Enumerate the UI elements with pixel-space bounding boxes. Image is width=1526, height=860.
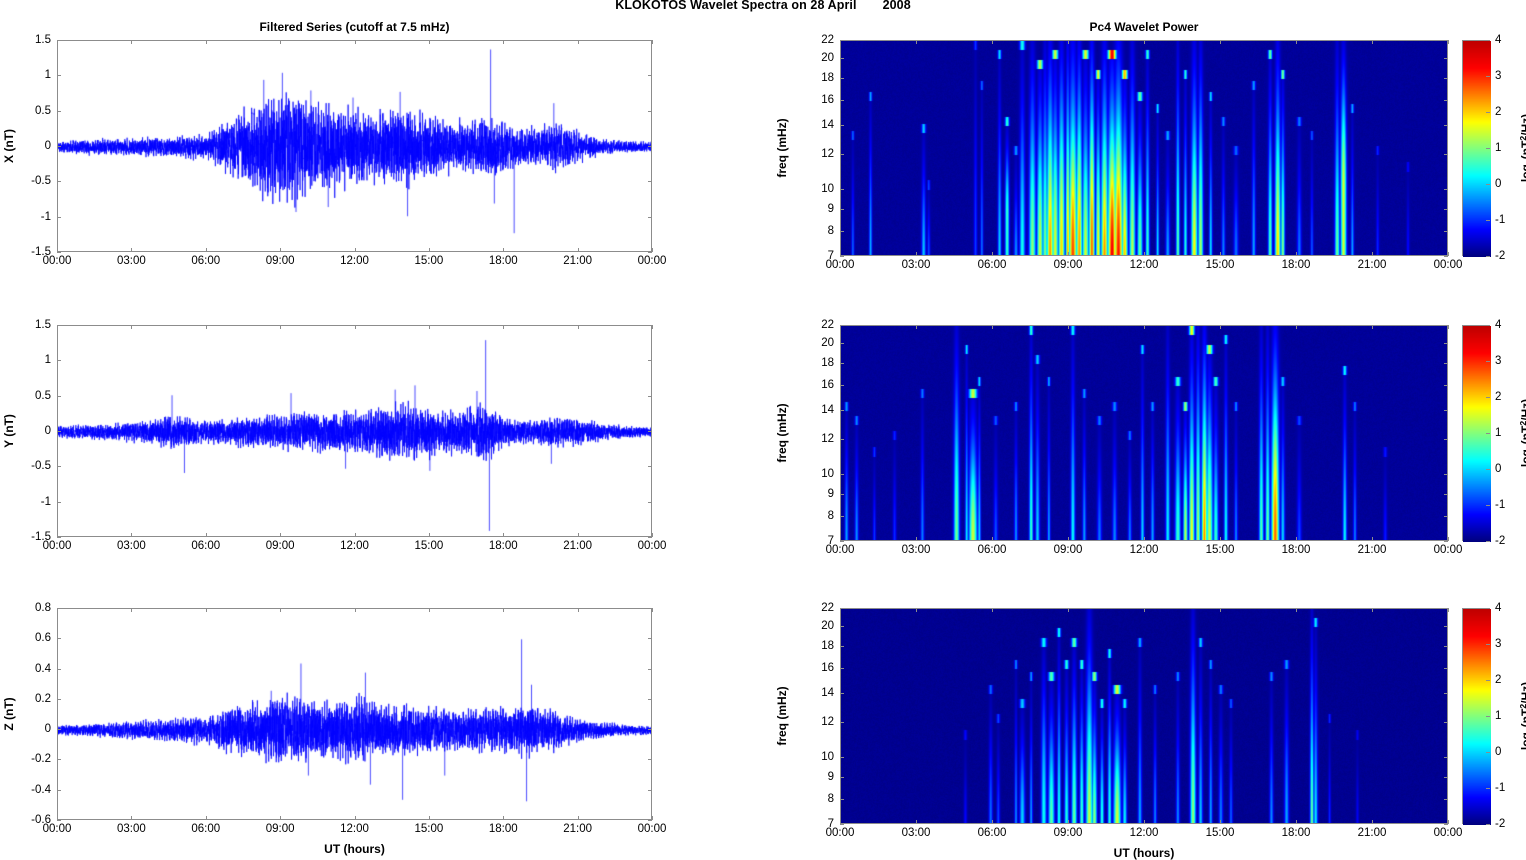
freq-tick-label: 14 — [804, 119, 834, 131]
xtick-label: 06:00 — [978, 259, 1007, 271]
xtick-label: 09:00 — [1054, 544, 1083, 556]
freq-tick-label: 14 — [804, 687, 834, 699]
xtick-label: 12:00 — [340, 255, 369, 267]
freq-tick-label: 12 — [804, 148, 834, 160]
ytick-label: 0.5 — [13, 390, 51, 402]
spectrogram-x — [840, 40, 1448, 256]
freq-tick-label: 9 — [804, 203, 834, 215]
ytick-label: 0.4 — [13, 663, 51, 675]
xtick-label: 00:00 — [826, 259, 855, 271]
xtick-label: 03:00 — [902, 259, 931, 271]
colorbar-tick-label: 4 — [1495, 602, 1501, 614]
xtick-label: 18:00 — [489, 540, 518, 552]
figure-title-year: 2008 — [883, 0, 911, 12]
xtick-label: 18:00 — [1282, 259, 1311, 271]
xtick-label: 15:00 — [1206, 544, 1235, 556]
colorbar-label: log2(nT2/Hz) — [1518, 399, 1526, 467]
xtick-label: 18:00 — [489, 823, 518, 835]
colorbar-tick-label: -1 — [1495, 499, 1505, 511]
colorbar-tick-label: -2 — [1495, 818, 1505, 830]
ytick-label: -1 — [13, 211, 51, 223]
xtick-label: 03:00 — [117, 540, 146, 552]
x-axis-label-left: UT (hours) — [324, 842, 385, 856]
freq-tick-label: 14 — [804, 404, 834, 416]
colorbar-tick-label: 3 — [1495, 355, 1501, 367]
freq-tick-label: 10 — [804, 468, 834, 480]
xtick-label: 12:00 — [1130, 259, 1159, 271]
colorbar-tick-label: 3 — [1495, 638, 1501, 650]
xtick-label: 06:00 — [978, 544, 1007, 556]
colorbar-gradient — [1463, 609, 1491, 825]
freq-tick-label: 18 — [804, 357, 834, 369]
freq-tick-label: 18 — [804, 72, 834, 84]
xtick-label: 06:00 — [978, 827, 1007, 839]
timeseries-canvas-y — [58, 326, 652, 537]
colorbar-tick-label: 1 — [1495, 710, 1501, 722]
freq-tick-label: 8 — [804, 510, 834, 522]
ytick-label: 1.5 — [13, 34, 51, 46]
colorbar-tick-label: 3 — [1495, 70, 1501, 82]
colorbar-tick-label: 0 — [1495, 178, 1501, 190]
ytick-label: 0 — [13, 425, 51, 437]
spectrogram-z — [840, 608, 1448, 824]
colorbar-tick-label: 4 — [1495, 34, 1501, 46]
freq-axis-label-z: freq (mHz) — [775, 686, 789, 745]
ytick-label: 0 — [13, 140, 51, 152]
xtick-label: 15:00 — [414, 540, 443, 552]
colorbar-label: log2(nT2/Hz) — [1518, 682, 1526, 750]
xtick-label: 18:00 — [489, 255, 518, 267]
ytick-label: 1 — [13, 354, 51, 366]
xtick-label: 06:00 — [191, 823, 220, 835]
colorbar-tick-label: 1 — [1495, 427, 1501, 439]
ytick-label: -0.2 — [13, 753, 51, 765]
xtick-label: 09:00 — [1054, 259, 1083, 271]
freq-axis-label-y: freq (mHz) — [775, 403, 789, 462]
xtick-label: 15:00 — [1206, 259, 1235, 271]
xtick-label: 00:00 — [43, 540, 72, 552]
freq-tick-label: 18 — [804, 640, 834, 652]
freq-tick-label: 22 — [804, 602, 834, 614]
xtick-label: 12:00 — [1130, 827, 1159, 839]
xtick-label: 12:00 — [1130, 544, 1159, 556]
timeseries-canvas-z — [58, 609, 652, 820]
xtick-label: 00:00 — [638, 540, 667, 552]
xtick-label: 21:00 — [563, 540, 592, 552]
freq-tick-label: 16 — [804, 379, 834, 391]
filtered-series-title: Filtered Series (cutoff at 7.5 mHz) — [57, 20, 652, 34]
ytick-label: 0.6 — [13, 632, 51, 644]
freq-tick-label: 20 — [804, 52, 834, 64]
xtick-label: 00:00 — [826, 544, 855, 556]
freq-tick-label: 10 — [804, 183, 834, 195]
colorbar-tick-label: 0 — [1495, 463, 1501, 475]
ytick-label: -0.5 — [13, 175, 51, 187]
xtick-label: 21:00 — [1358, 544, 1387, 556]
freq-axis-label-x: freq (mHz) — [775, 118, 789, 177]
xtick-label: 00:00 — [1434, 544, 1463, 556]
xtick-label: 21:00 — [1358, 259, 1387, 271]
xtick-label: 03:00 — [902, 827, 931, 839]
freq-tick-label: 22 — [804, 319, 834, 331]
xtick-label: 00:00 — [638, 255, 667, 267]
freq-tick-label: 9 — [804, 488, 834, 500]
figure-title-text: KLOKOTOS Wavelet Spectra on 28 April — [615, 0, 856, 12]
xtick-label: 03:00 — [117, 823, 146, 835]
xtick-label: 03:00 — [902, 544, 931, 556]
colorbar-tick-label: 2 — [1495, 106, 1501, 118]
xtick-label: 18:00 — [1282, 544, 1311, 556]
spectrogram-canvas-x — [841, 41, 1448, 256]
freq-tick-label: 20 — [804, 337, 834, 349]
ytick-label: 0 — [13, 723, 51, 735]
ytick-label: 1.5 — [13, 319, 51, 331]
colorbar-tick-label: 1 — [1495, 142, 1501, 154]
colorbar-tick-label: 4 — [1495, 319, 1501, 331]
xtick-label: 00:00 — [1434, 827, 1463, 839]
colorbar-tick-label: 2 — [1495, 391, 1501, 403]
colorbar-tick-label: -1 — [1495, 782, 1505, 794]
xtick-label: 18:00 — [1282, 827, 1311, 839]
ytick-label: 0.8 — [13, 602, 51, 614]
x-axis-label-right: UT (hours) — [1114, 846, 1175, 860]
ytick-label: -1 — [13, 496, 51, 508]
xtick-label: 00:00 — [43, 823, 72, 835]
xtick-label: 09:00 — [266, 255, 295, 267]
colorbar-tick-label: -2 — [1495, 250, 1505, 262]
y-axis-label-z: Z (nT) — [2, 697, 16, 730]
ytick-label: 0.2 — [13, 693, 51, 705]
xtick-label: 12:00 — [340, 540, 369, 552]
xtick-label: 09:00 — [266, 540, 295, 552]
timeseries-plot-y — [57, 325, 652, 537]
xtick-label: 00:00 — [43, 255, 72, 267]
xtick-label: 00:00 — [1434, 259, 1463, 271]
freq-tick-label: 9 — [804, 771, 834, 783]
xtick-label: 15:00 — [1206, 827, 1235, 839]
freq-tick-label: 12 — [804, 716, 834, 728]
spectrogram-canvas-y — [841, 326, 1448, 541]
freq-tick-label: 8 — [804, 793, 834, 805]
freq-tick-label: 16 — [804, 662, 834, 674]
colorbar-gradient — [1463, 326, 1491, 542]
xtick-label: 21:00 — [563, 823, 592, 835]
colorbar-tick-label: -1 — [1495, 214, 1505, 226]
freq-tick-label: 22 — [804, 34, 834, 46]
spectrogram-y — [840, 325, 1448, 541]
y-axis-label-x: X (nT) — [2, 129, 16, 163]
xtick-label: 06:00 — [191, 540, 220, 552]
freq-tick-label: 16 — [804, 94, 834, 106]
ytick-label: -0.5 — [13, 460, 51, 472]
xtick-label: 15:00 — [414, 255, 443, 267]
spectrogram-canvas-z — [841, 609, 1448, 824]
ytick-label: 0.5 — [13, 105, 51, 117]
xtick-label: 12:00 — [340, 823, 369, 835]
freq-tick-label: 12 — [804, 433, 834, 445]
xtick-label: 09:00 — [1054, 827, 1083, 839]
timeseries-plot-z — [57, 608, 652, 820]
colorbar-tick-label: 0 — [1495, 746, 1501, 758]
colorbar-tick-label: 2 — [1495, 674, 1501, 686]
ytick-label: -0.4 — [13, 784, 51, 796]
xtick-label: 21:00 — [1358, 827, 1387, 839]
xtick-label: 09:00 — [266, 823, 295, 835]
freq-tick-label: 8 — [804, 225, 834, 237]
xtick-label: 06:00 — [191, 255, 220, 267]
xtick-label: 21:00 — [563, 255, 592, 267]
timeseries-plot-x — [57, 40, 652, 252]
colorbar-label: log2(nT2/Hz) — [1518, 114, 1526, 182]
ytick-label: 1 — [13, 69, 51, 81]
xtick-label: 00:00 — [638, 823, 667, 835]
xtick-label: 00:00 — [826, 827, 855, 839]
timeseries-canvas-x — [58, 41, 652, 252]
xtick-label: 15:00 — [414, 823, 443, 835]
figure-title: KLOKOTOS Wavelet Spectra on 28 April2008 — [0, 0, 1526, 12]
freq-tick-label: 20 — [804, 620, 834, 632]
y-axis-label-y: Y (nT) — [2, 414, 16, 448]
colorbar-gradient — [1463, 41, 1491, 257]
wavelet-power-title: Pc4 Wavelet Power — [840, 20, 1448, 34]
xtick-label: 03:00 — [117, 255, 146, 267]
colorbar-tick-label: -2 — [1495, 535, 1505, 547]
freq-tick-label: 10 — [804, 751, 834, 763]
